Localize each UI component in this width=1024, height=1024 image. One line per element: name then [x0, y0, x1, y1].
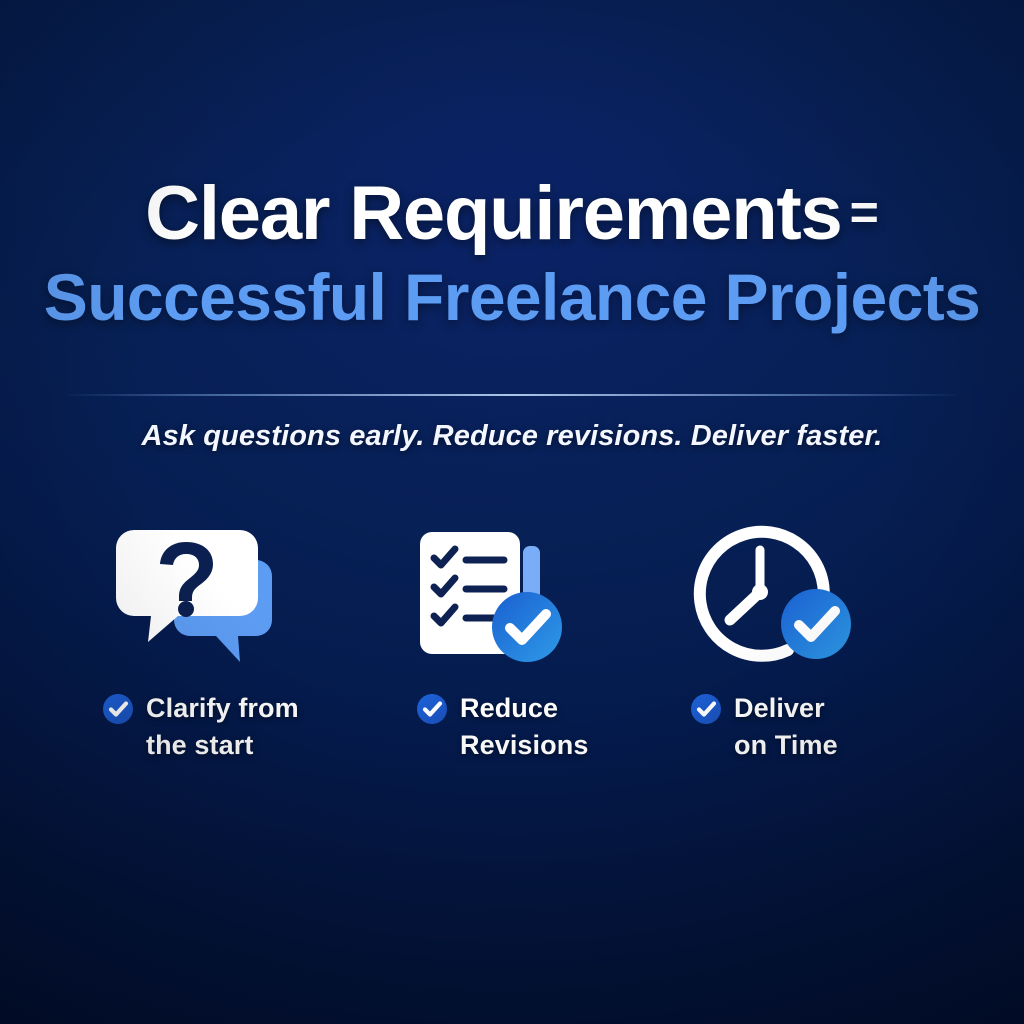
feature-label-reduce: Reduce Revisions — [460, 690, 588, 765]
check-badge-icon — [492, 592, 562, 662]
check-badge-icon — [781, 589, 851, 659]
feature-label-deliver: Deliver on Time — [734, 690, 838, 765]
vignette-overlay — [0, 0, 1024, 1024]
check-circle-icon — [102, 693, 134, 725]
headline-line-1: Clear Requirements= — [0, 176, 1024, 252]
subtitle-text: Ask questions early. Reduce revisions. D… — [0, 420, 1024, 453]
checklist-document-icon — [414, 524, 614, 674]
feature-caption-deliver: Deliver on Time — [690, 690, 946, 765]
poster-canvas: Clear Requirements= Successful Freelance… — [0, 0, 1024, 1024]
clock-hands-shape — [730, 550, 760, 620]
clock-center-dot — [752, 584, 768, 600]
check-circle-icon — [416, 693, 448, 725]
divider-rule — [66, 394, 958, 396]
equals-sign: = — [850, 187, 879, 237]
clock-check-icon — [692, 524, 892, 674]
speech-bubbles-question-icon — [116, 524, 316, 674]
feature-item-reduce: Reduce Revisions — [366, 524, 656, 765]
headline-line-2: Successful Freelance Projects — [0, 264, 1024, 330]
feature-item-deliver: Deliver on Time — [656, 524, 946, 765]
feature-caption-reduce: Reduce Revisions — [416, 690, 656, 765]
feature-item-clarify: Clarify from the start — [76, 524, 366, 765]
headline-line-1-text: Clear Requirements — [145, 171, 841, 256]
feature-caption-clarify: Clarify from the start — [102, 690, 366, 765]
headline-block: Clear Requirements= Successful Freelance… — [0, 176, 1024, 330]
feature-row: Clarify from the start — [76, 524, 948, 765]
feature-label-clarify: Clarify from the start — [146, 690, 299, 765]
check-circle-icon — [690, 693, 722, 725]
